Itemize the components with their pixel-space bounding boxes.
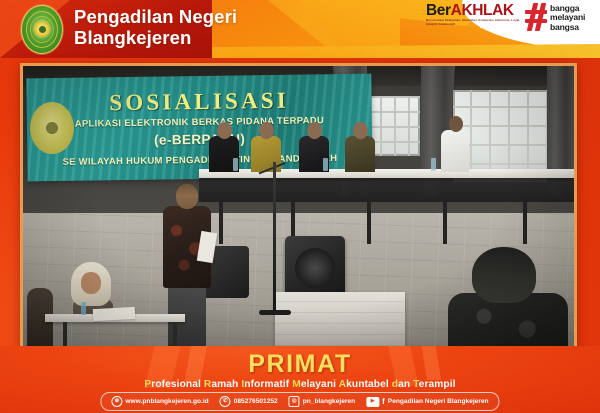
table-leg [219,200,223,244]
tagline-word: Terampil [413,379,456,390]
tagline-initial: T [413,379,419,390]
participant-document [93,307,136,321]
panelist-head [353,122,368,139]
event-photo-frame: SOSIALISASI APLIKASI ELEKTRONIK BERKAS P… [20,63,577,352]
mahkamah-agung-court-logo-icon [21,5,63,54]
foreground-attendee [448,247,568,349]
microphone-base [259,310,291,315]
presenter-head [176,184,198,209]
logo-star-icon [34,21,50,37]
footer-title: PRIMAT [0,350,600,379]
water-bottle [431,158,436,171]
tagline-initial: P [144,379,151,390]
water-bottle [323,158,328,171]
tagline-initial: d [392,379,398,390]
page-title-line2: Blangkejeren [74,27,384,48]
room-window-center [368,96,420,156]
contact-item[interactable]: ◎pn_blangkejeren [289,396,355,407]
participant-face [81,272,101,294]
globe-icon[interactable]: ⊕ [111,396,122,407]
tagline-initial: M [292,379,301,390]
banner-title: SOSIALISASI [26,87,371,118]
tagline-word: Ramah [204,379,241,390]
water-bottle [233,158,238,171]
desk-leg [63,322,67,349]
page-title-line1: Pengadilan Negeri [74,6,384,27]
tagline-word: Informatif [241,379,292,390]
berakhlak-prefix: Ber [426,2,451,19]
poster-root: Pengadilan Negeri Blangkejeren BerAKHLAK… [0,0,600,413]
contact-item[interactable]: ✆085276501252 [220,396,278,407]
table-leg [443,200,447,244]
table-leg [523,200,527,244]
whatsapp-icon[interactable]: ✆ [220,396,231,407]
standing-presenter [163,184,211,349]
hashtag-icon [525,3,547,31]
poster-footer: PRIMAT Profesional Ramah Informatif Mela… [0,346,600,413]
panelist-head [449,116,463,132]
loudspeaker-main [285,236,345,300]
tagline-word: Melayani [292,379,338,390]
seated-panelist [345,136,375,172]
berakhlak-word: BerAKHLAK [426,3,522,18]
contact-item[interactable]: ⊕www.pnblangkejeren.go.id [111,396,208,407]
berakhlak-suffix: AKHLAK [451,2,514,19]
panelist-head [217,122,232,139]
berakhlak-slogan: bangga melayani bangsa [550,2,585,32]
tagline-initial: A [339,379,346,390]
panelist-head [259,122,274,139]
contact-label: 085276501252 [234,398,278,405]
microphone-stand [273,162,276,312]
berakhlak-logo: BerAKHLAK Berorientasi Pelayanan, Akunta… [426,2,592,38]
event-photo: SOSIALISASI APLIKASI ELEKTRONIK BERKAS P… [23,66,574,349]
contact-label: pn_blangkejeren [303,398,355,405]
desk-leg [173,322,177,349]
contact-item[interactable]: ▶fPengadilan Negeri Blangkejeren [366,397,488,407]
berakhlak-subtitle: Berorientasi Pelayanan, Akuntabel, Kompe… [426,19,522,26]
head-table-skirt [199,178,574,202]
contact-label: Pengadilan Negeri Blangkejeren [388,398,489,405]
tagline-word: dan [392,379,413,390]
attendee-head [472,247,536,303]
contact-bar: ⊕www.pnblangkejeren.go.id✆085276501252◎p… [100,392,499,411]
instagram-icon[interactable]: ◎ [289,396,300,407]
berakhlak-wordmark: BerAKHLAK Berorientasi Pelayanan, Akunta… [426,2,522,26]
tagline-initial: I [241,379,244,390]
page-title: Pengadilan Negeri Blangkejeren [74,6,384,48]
contact-label: www.pnblangkejeren.go.id [125,398,208,405]
tagline-word: Profesional [144,379,204,390]
court-logo [18,5,66,53]
footer-tagline: Profesional Ramah Informatif Melayani Ak… [0,379,600,390]
tagline-initial: R [204,379,211,390]
table-leg [367,200,371,244]
water-bottle [81,302,86,315]
slogan-line-3: bangsa [550,23,585,32]
seated-panelist [441,130,469,172]
stage-platform [275,292,405,346]
tagline-word: Akuntabel [339,379,392,390]
panelist-head [307,122,322,139]
facebook-icon[interactable]: f [382,398,385,406]
youtube-icon[interactable]: ▶ [366,397,379,407]
poster-header: Pengadilan Negeri Blangkejeren BerAKHLAK… [0,0,600,58]
